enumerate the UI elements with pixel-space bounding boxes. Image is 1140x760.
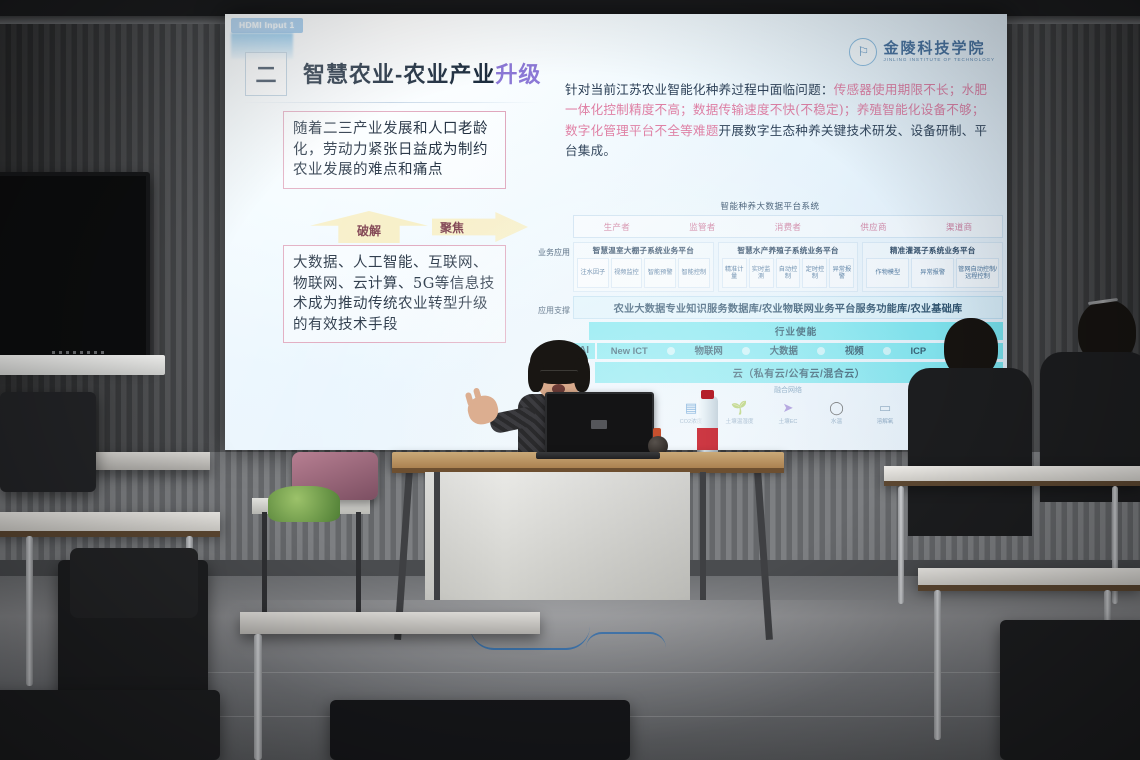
sensor-icon-item: ◯水温	[816, 400, 858, 425]
role-item: 生产者	[574, 221, 660, 233]
platform-cell: 异常报警	[911, 258, 954, 288]
sensor-caption: 土壤EC	[767, 417, 809, 425]
platform-title: 精准灌溉子系统业务平台	[866, 245, 999, 256]
text-box-problem: 随着二三产业发展和人口老龄化，劳动力紧张日益成为制约农业发展的难点和痛点	[283, 111, 506, 189]
eyeglasses-icon	[540, 370, 578, 380]
potted-plant	[268, 486, 340, 522]
side-table-leg	[356, 512, 361, 622]
student-desk-edge	[884, 481, 1140, 486]
sensor-icon-item: ▭溶解氧	[864, 400, 906, 425]
platform-card: 智慧温室大棚子系统业务平台 注水因子 视频监控 智能预警 智能控制	[573, 242, 714, 292]
diagram-platform-row: 智慧温室大棚子系统业务平台 注水因子 视频监控 智能预警 智能控制 智慧水产养殖…	[573, 242, 1003, 292]
row-label-support: 应用支撑	[537, 306, 571, 316]
student-desk-top	[240, 612, 540, 634]
arrow-up-label: 破解	[357, 222, 381, 243]
display-indicator-icon	[52, 351, 106, 354]
bottle-label	[697, 428, 718, 450]
separator-dot-icon	[742, 347, 750, 355]
chair-foreground-right[interactable]	[1000, 620, 1140, 760]
platform-cell: 自动控制	[776, 258, 801, 288]
student-desk-top	[884, 466, 1140, 482]
tech-item: 视频	[845, 346, 864, 356]
platform-cell: 智能控制	[678, 258, 710, 288]
separator-dot-icon	[667, 347, 675, 355]
slide-paragraph: 针对当前江苏农业智能化种养过程中面临问题：传感器使用期限不长；水肥一体化控制精度…	[565, 80, 993, 162]
soil-probe-icon: 🌱	[719, 400, 761, 416]
slide-section-number: 二	[245, 52, 287, 96]
desk-leg	[700, 472, 706, 600]
separator-dot-icon	[883, 347, 891, 355]
arrow-right-label: 聚焦	[440, 219, 464, 236]
tech-item: ICP	[911, 346, 927, 356]
diagram-title: 智能种养大数据平台系统	[537, 200, 1003, 212]
sensor-caption: 水温	[816, 417, 858, 425]
student-desk-top	[0, 512, 220, 532]
sensor-caption: 溶解氧	[864, 417, 906, 425]
logo-name-cn: 金陵科技学院	[883, 41, 995, 56]
sensor-icon-item: ➤土壤EC	[767, 400, 809, 425]
platform-cell: 定时控制	[802, 258, 827, 288]
platform-cell: 管网自动控制/远程控制	[956, 258, 999, 288]
desk-frame	[934, 590, 941, 740]
lectern-desk-panel	[425, 472, 690, 600]
student-desk-top	[918, 568, 1140, 586]
chair-backrest[interactable]	[70, 548, 198, 618]
platform-cell: 作物模型	[866, 258, 909, 288]
dissolved-oxygen-icon: ▭	[864, 400, 906, 416]
tech-item: 物联网	[695, 346, 723, 356]
classroom-photo: HDMI Input 1 二 智慧农业-农业产业升级 ⚐ 金陵科技学院 JINL…	[0, 0, 1140, 760]
slide-title: 智慧农业-农业产业升级	[303, 57, 541, 89]
water-temp-icon: ◯	[816, 400, 858, 416]
title-divider	[241, 102, 541, 103]
student-body	[908, 368, 1032, 536]
role-item: 渠道商	[916, 221, 1002, 233]
logo-name-en: JINLING INSTITUTE OF TECHNOLOGY	[883, 58, 995, 63]
sensor-icon-item: 🌱土壤温湿度	[719, 400, 761, 425]
diagram-role-row: 生产者 监管者 消费者 供应商 渠道商	[573, 215, 1003, 238]
slide-title-main: 智慧农业-农业产业	[303, 62, 495, 87]
chair-left-far[interactable]	[0, 392, 96, 492]
industry-enable-bar: 行业使能	[589, 322, 1003, 340]
row-label-business: 业务应用	[537, 248, 571, 258]
platform-cell: 视频监控	[611, 258, 643, 288]
hdmi-input-badge: HDMI Input 1	[231, 18, 303, 33]
database-bar: 农业大数据专业知识服务数据库/农业物联网业务平台服务功能库/农业基础库	[573, 296, 1003, 319]
platform-cell: 注水因子	[577, 258, 609, 288]
desk-leg	[434, 472, 440, 600]
tech-item: 大数据	[770, 346, 798, 356]
role-item: 供应商	[831, 221, 917, 233]
paragraph-lead: 针对当前江苏农业智能化种养过程中面临问题：	[565, 82, 834, 97]
desk-frame	[26, 536, 33, 686]
technology-row: AI New ICT 物联网 大数据 视频 ICP GIS	[573, 343, 1003, 359]
platform-cell: 智能预警	[644, 258, 676, 288]
side-table-leg	[262, 512, 267, 622]
university-logo: ⚐ 金陵科技学院 JINLING INSTITUTE OF TECHNOLOGY	[849, 38, 995, 66]
laptop-logo-icon	[591, 420, 607, 429]
laptop-screen[interactable]	[545, 392, 654, 460]
crane-emblem-icon: ⚐	[849, 38, 877, 66]
role-item: 消费者	[745, 221, 831, 233]
bottle-cap	[701, 390, 714, 399]
laptop-base[interactable]	[536, 452, 660, 459]
desk-frame	[898, 486, 904, 604]
wall-display-off[interactable]	[0, 172, 150, 362]
ec-probe-icon: ➤	[767, 400, 809, 416]
platform-cell: 异常报警	[829, 258, 854, 288]
platform-title: 智慧水产养殖子系统业务平台	[722, 245, 855, 256]
role-item: 监管者	[660, 221, 746, 233]
chair-foreground-center[interactable]	[330, 700, 630, 760]
desk-frame	[254, 634, 262, 760]
text-box-solution: 大数据、人工智能、互联网、物联网、云计算、5G等信息技术成为推动传统农业转型升级…	[283, 245, 506, 343]
platform-cell: 精准计量	[722, 258, 747, 288]
blue-cable	[586, 632, 666, 648]
platform-title: 智慧温室大棚子系统业务平台	[577, 245, 710, 256]
platform-card: 精准灌溉子系统业务平台 作物模型 异常报警 管网自动控制/远程控制	[862, 242, 1003, 292]
platform-cell: 实时监测	[749, 258, 774, 288]
slide-title-accent: 升级	[495, 62, 541, 87]
chair-foreground-left[interactable]	[0, 690, 220, 760]
display-shelf	[0, 355, 165, 375]
separator-dot-icon	[817, 347, 825, 355]
sensor-caption: 土壤温湿度	[719, 417, 761, 425]
platform-card: 智慧水产养殖子系统业务平台 精准计量 实时监测 自动控制 定时控制 异常报警	[718, 242, 859, 292]
